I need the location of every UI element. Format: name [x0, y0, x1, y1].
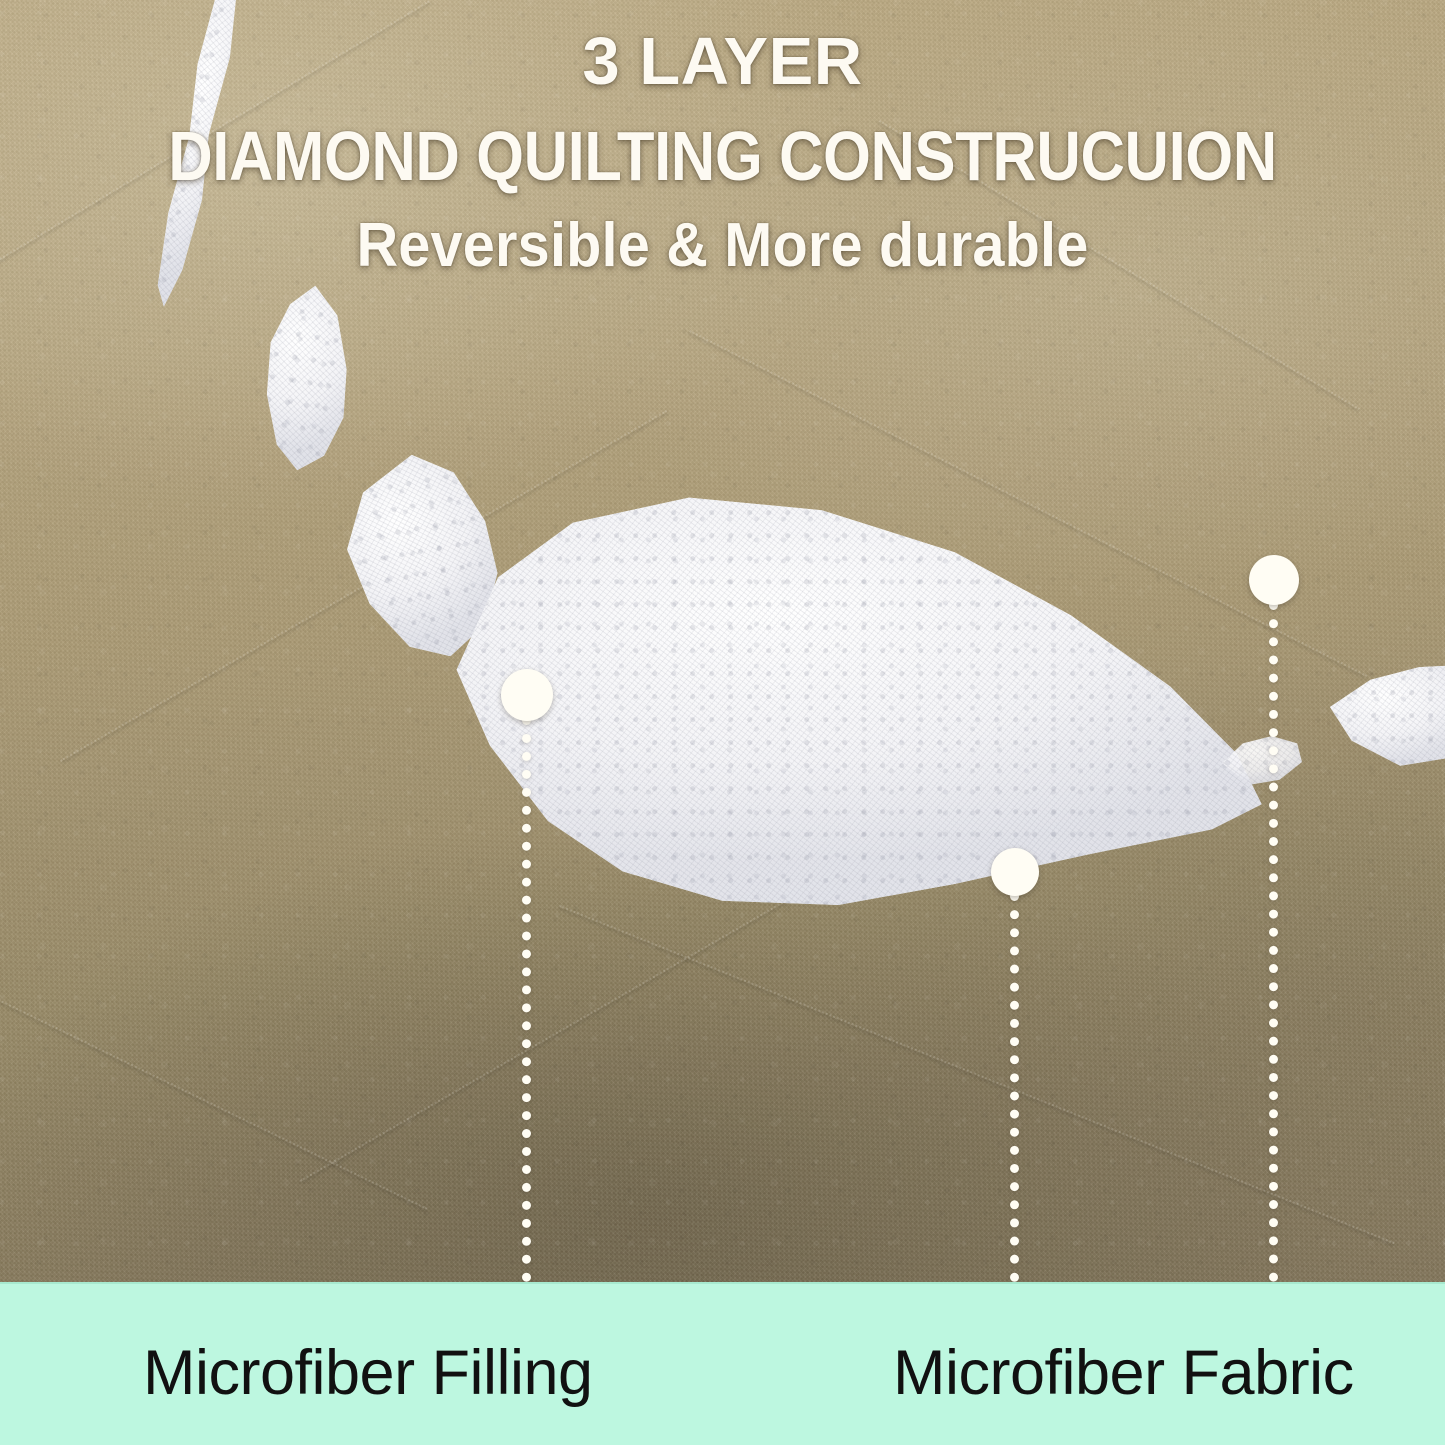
batting-wedge-right: [1330, 665, 1445, 770]
microfiber-filling-patch: [440, 485, 1270, 905]
batting-seam-ribbon: [134, 0, 259, 312]
callout-leader-line: [1269, 601, 1278, 1282]
legend-bar: Microfiber Filling Microfiber Fabric: [0, 1282, 1445, 1445]
quilted-fabric-photo: 3 LAYER DIAMOND QUILTING CONSTRUCUION Re…: [0, 0, 1445, 1282]
callout-leader-line: [522, 716, 531, 1282]
legend-label-microfiber-fabric: Microfiber Fabric: [893, 1337, 1354, 1409]
callout-dot: [1249, 555, 1299, 605]
callout-leader-line: [1010, 892, 1019, 1282]
legend-label-microfiber-filling: Microfiber Filling: [143, 1337, 593, 1409]
quilt-seam-line: [879, 120, 1360, 410]
quilt-seam-line: [0, 980, 427, 1210]
product-infographic: 3 LAYER DIAMOND QUILTING CONSTRUCUION Re…: [0, 0, 1445, 1445]
headline-line-3: Reversible & More durable: [51, 191, 1395, 277]
batting-fragment-upper: [234, 278, 372, 478]
headline-line-2: DIAMOND QUILTING CONSTRUCUION: [87, 95, 1359, 191]
quilt-seam-line: [559, 905, 1394, 1244]
